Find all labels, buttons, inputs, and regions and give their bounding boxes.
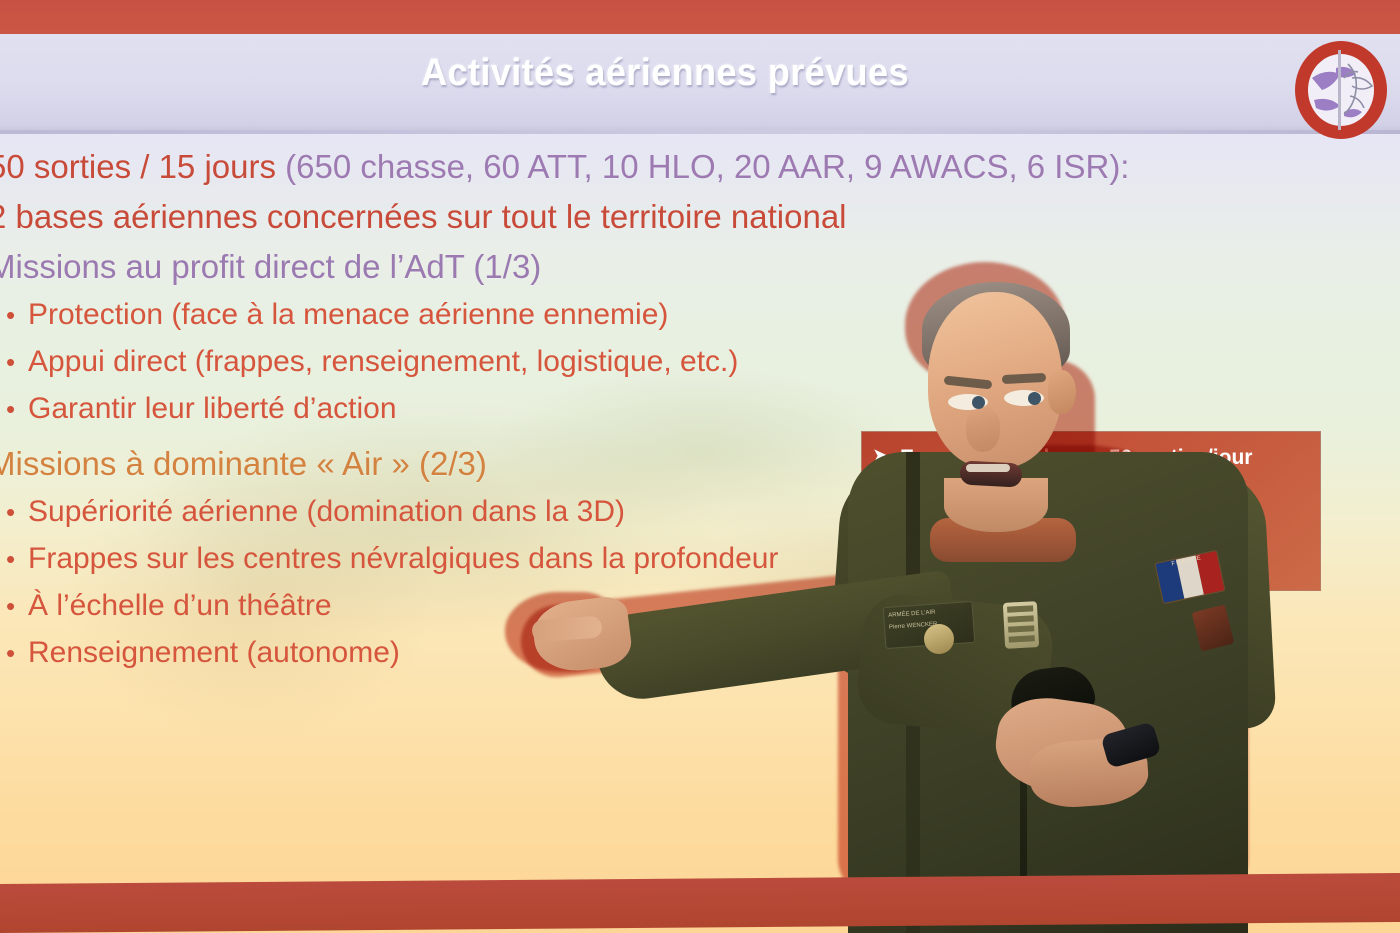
speaker-shadow-torso: [838, 445, 1248, 895]
bullet-text: Garantir leur liberté d’action: [28, 392, 397, 425]
bullet-dot-icon: •: [6, 593, 28, 619]
speaker-shadow-hand: [505, 592, 615, 672]
sorties-detail: (650 chasse, 60 ATT, 10 HLO, 20 AAR, 9 A…: [285, 148, 1129, 185]
bullet-text: Supériorité aérienne (domination dans la…: [28, 495, 625, 528]
bullet-text: Protection (face à la menace aérienne en…: [28, 298, 668, 331]
list-item: •Protection (face à la menace aérienne e…: [6, 300, 1358, 330]
chevron-right-icon: ➤: [872, 446, 894, 466]
slide-title: Activités aériennes prévues: [33, 52, 1297, 95]
bullet-text: À l’échelle d’un théâtre: [28, 589, 332, 622]
wall-band-top: [0, 0, 1400, 34]
bullet-text: Frappes sur les centres névralgiques dan…: [28, 542, 778, 575]
screenshot-stage: Activités aériennes prévues 50 sorties /…: [0, 0, 1400, 933]
bullet-dot-icon: •: [6, 546, 28, 572]
slide-header-rule: [0, 130, 1400, 134]
bullet-dot-icon: •: [6, 640, 28, 666]
bullet-text: Renseignement (autonome): [28, 636, 400, 669]
bullet-dot-icon: •: [6, 302, 28, 328]
armee-de-l-air-roundel-emblem: [1292, 38, 1390, 142]
sorties-main: 50 sorties / 15 jours: [0, 148, 285, 185]
list-item: •Appui direct (frappes, renseignement, l…: [6, 347, 1358, 377]
slide-line-sorties: 50 sorties / 15 jours (650 chasse, 60 AT…: [0, 150, 1358, 183]
chevron-right-icon: ➤: [872, 478, 894, 498]
bullet-dot-icon: •: [6, 349, 28, 375]
list-item: •Garantir leur liberté d’action: [6, 394, 1358, 424]
bullet-dot-icon: •: [6, 396, 28, 422]
bullet-text: Appui direct (frappes, renseignement, lo…: [28, 345, 738, 378]
slide-line-bases: 2 bases aériennes concernées sur tout le…: [0, 200, 1358, 233]
bullet-dot-icon: •: [6, 499, 28, 525]
slide-heading-missions-adt: Missions au profit direct de l’AdT (1/3): [0, 250, 1358, 283]
